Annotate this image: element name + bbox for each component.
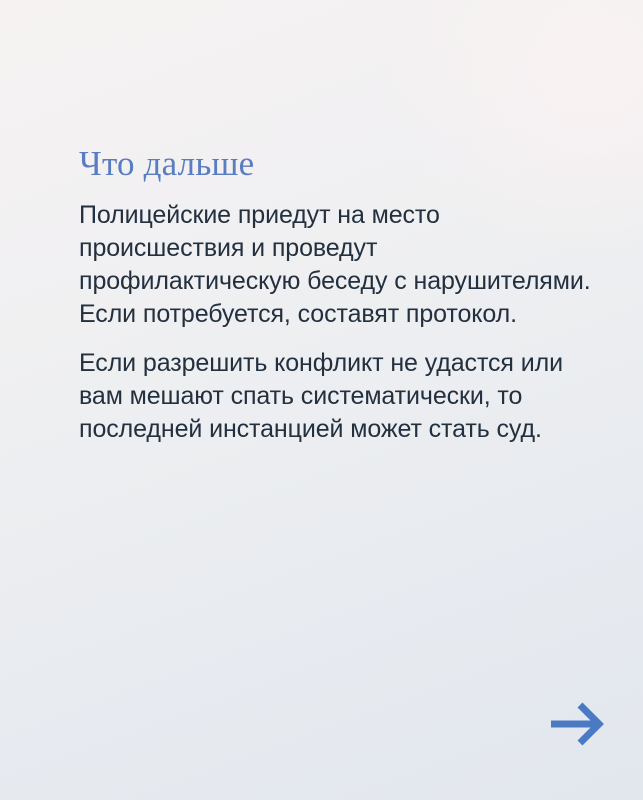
slide-content: Что дальше Полицейские приедут на место … bbox=[79, 143, 599, 446]
slide-paragraph-1: Полицейские приедут на место происшестви… bbox=[79, 199, 599, 331]
slide-title: Что дальше bbox=[79, 143, 599, 185]
slide-paragraph-2: Если разрешить конфликт не удастся или в… bbox=[79, 347, 599, 446]
next-arrow-icon[interactable] bbox=[547, 698, 605, 750]
slide-card: Что дальше Полицейские приедут на место … bbox=[0, 0, 643, 800]
